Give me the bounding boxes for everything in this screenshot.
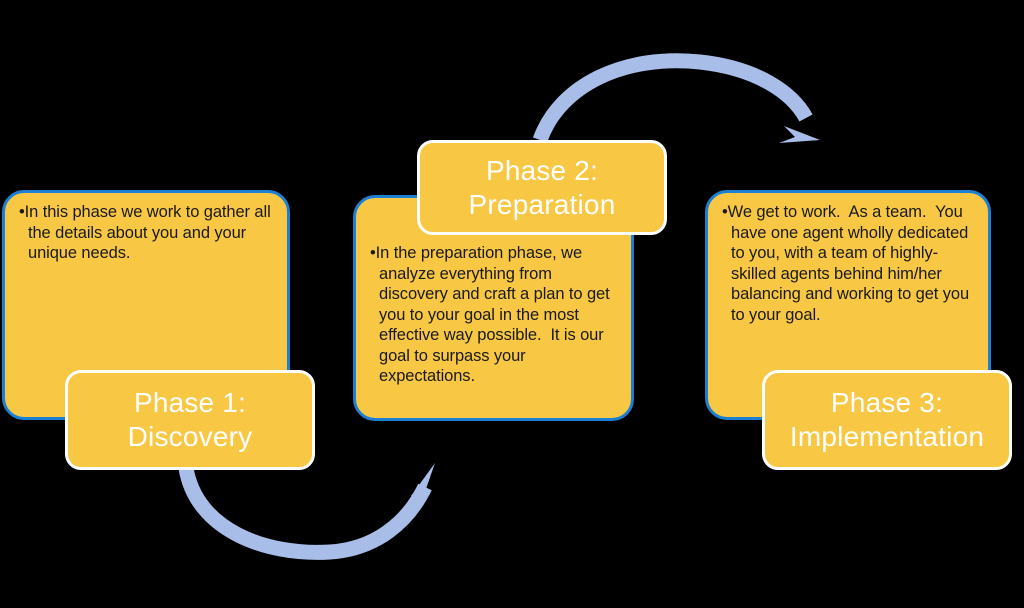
arrow-phase1-to-phase2	[186, 463, 435, 552]
arrowhead-phase2-to-phase3	[779, 126, 820, 143]
arrow-phase2-to-phase3	[540, 61, 820, 143]
phase-2-label-text: Phase 2: Preparation	[461, 154, 624, 222]
phase-1-label-box[interactable]: Phase 1: Discovery	[65, 370, 315, 470]
phase-3-body-text: •We get to work. As a team. You have one…	[722, 202, 978, 325]
phase-3-label-box[interactable]: Phase 3: Implementation	[762, 370, 1012, 470]
phase-3-label-text: Phase 3: Implementation	[782, 386, 992, 454]
phase-1-body-text: •In this phase we work to gather all the…	[19, 202, 277, 264]
diagram-canvas: •In this phase we work to gather all the…	[0, 0, 1024, 608]
phase-2-body-text: •In the preparation phase, we analyze ev…	[370, 243, 621, 387]
phase-1-label-text: Phase 1: Discovery	[120, 386, 261, 454]
phase-2-label-box[interactable]: Phase 2: Preparation	[417, 140, 667, 235]
